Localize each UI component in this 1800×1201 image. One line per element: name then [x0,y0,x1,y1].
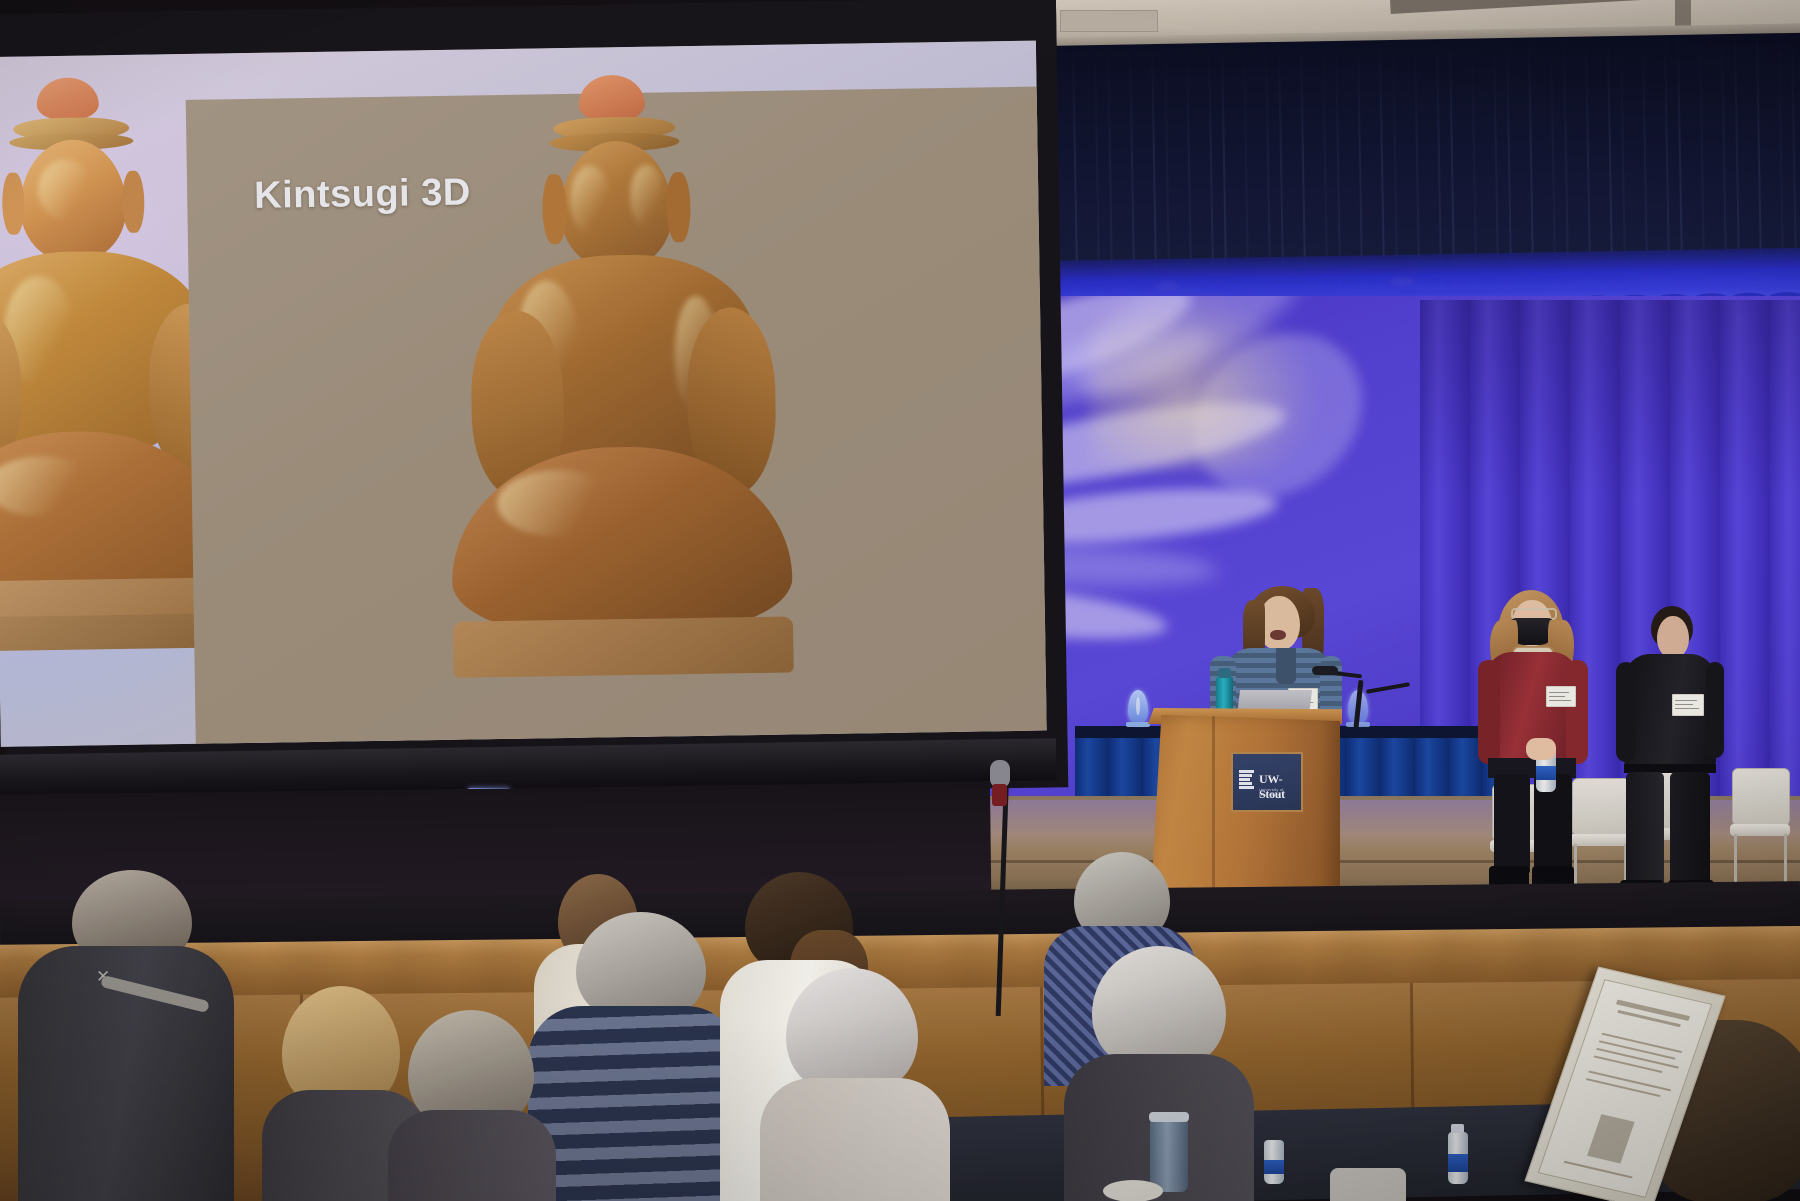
curtain-fold [1186,43,1192,293]
curtain-fold [1357,41,1363,291]
torso [388,1110,556,1201]
curtain-fold [1094,45,1100,295]
head [1657,616,1689,658]
curtain-fold [1151,44,1157,294]
curtain-fold [1164,44,1170,294]
curtain-fold [1620,36,1626,286]
torso [760,1078,950,1201]
arm-right [1706,662,1724,758]
curtain-fold [1107,45,1113,295]
podium-plaque: UW-Stout University of Wisconsin [1231,752,1303,812]
leg-left [1494,774,1530,874]
curtain-fold [1734,34,1740,284]
curtain-fold [1449,39,1455,289]
curtain-fold [1335,41,1341,291]
curtain-fold [1778,33,1784,283]
curtain-fold [1550,37,1556,287]
curtain-fold [1392,40,1398,290]
table-water-bottle-2-label [1264,1160,1284,1174]
curtain-fold [1664,35,1670,285]
microphone-head [1312,666,1338,675]
curtain-fold [1677,35,1683,285]
curtain-fold [1791,33,1797,283]
table-water-bottle-label [1448,1154,1468,1172]
curtain-fold [1414,40,1420,290]
table-plate [1103,1180,1163,1201]
slide-title: Kintsugi 3D [254,171,471,217]
curtain-fold [1243,43,1249,293]
curtain-fold [1379,40,1385,290]
polo-placket [1276,648,1296,684]
podium-seam [1212,716,1215,914]
curtain-fold [1721,34,1727,284]
curtain-fold [1585,37,1591,287]
uw-stout-logo-icon [1239,770,1255,792]
projection-screen[interactable]: Kintsugi 3D [0,41,1047,747]
arm-left [1616,662,1636,762]
arm-left [1478,660,1500,764]
curtain-fold [1493,38,1499,288]
name-badge [1672,694,1704,716]
water-bottle-cap [1218,668,1231,678]
curtain-fold [1756,34,1762,284]
leg-right [1670,772,1710,886]
microphone-body [992,784,1007,806]
glass-award-base [1126,722,1150,727]
curtain-fold [1528,38,1534,288]
curtain-fold [1471,39,1477,289]
curtain-fold [1436,39,1442,289]
travel-tumbler-lid [1149,1112,1189,1122]
name-badge [1546,686,1576,707]
glass-award [1128,690,1148,724]
mouth-open [1270,630,1286,640]
curtain-fold [1278,42,1284,292]
table-water-bottle-cap [1451,1124,1464,1133]
curtain-fold [1300,42,1306,292]
curtain-fold [1322,41,1328,291]
curtain-fold [1265,42,1271,292]
right-curtain-shading [1420,300,1800,800]
stage-gobo-light [1090,290,1320,470]
podium [1150,715,1340,915]
torso-striped [528,1006,740,1201]
curtain-fold [1129,44,1135,294]
table-chair-back [1330,1168,1406,1201]
leg-left [1626,772,1664,884]
travel-tumbler [1150,1118,1188,1192]
curtain-fold [1699,35,1705,285]
podium-plaque-tagline: University of Wisconsin [1259,787,1299,797]
curtain-fold [1221,43,1227,293]
curtain-fold [1607,36,1613,286]
curtain-fold [1072,45,1078,295]
curtain-fold [1642,36,1648,286]
presentation-photo-scene: UW-Stout University of Wisconsin [0,0,1800,1201]
ceiling-vent [1060,10,1158,32]
curtain-fold [1208,43,1214,293]
curtain-fold [1506,38,1512,288]
curtain-fold [1563,37,1569,287]
water-bottle-label [1536,766,1556,780]
arm-right [1566,660,1588,764]
hand [1526,738,1556,760]
